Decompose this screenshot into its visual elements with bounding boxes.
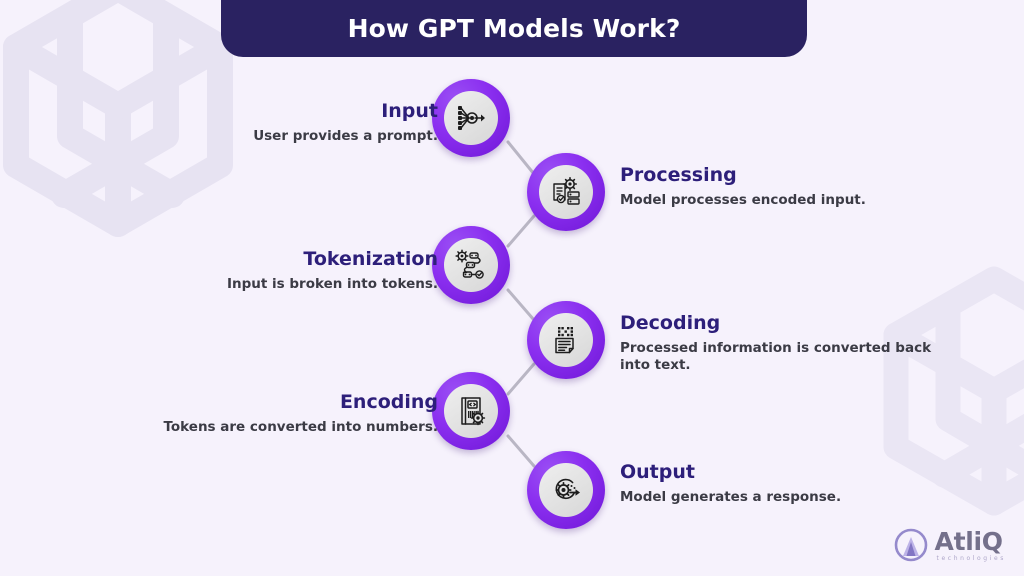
step-description-output: Model generates a response. [620,489,950,506]
step-title-decoding: Decoding [620,313,950,335]
step-title-output: Output [620,462,950,484]
step-description-encoding: Tokens are converted into numbers. [78,419,438,436]
step-node-decoding[interactable] [527,301,605,379]
step-title-input: Input [178,101,438,123]
step-node-processing[interactable] [527,153,605,231]
page-title-banner: How GPT Models Work? [221,0,807,57]
step-description-decoding: Processed information is converted back … [620,340,950,375]
step-text-processing: Processing Model processes encoded input… [620,165,950,209]
brand-tagline: technologies [937,556,1006,562]
brand-wordmark: AtliQ technologies [935,529,1006,562]
step-title-encoding: Encoding [78,392,438,414]
gear-arrow-icon [539,463,593,517]
qr-document-icon [539,313,593,367]
step-text-encoding: Encoding Tokens are converted into numbe… [78,392,438,436]
atliq-triangle-logo-icon [894,528,928,562]
step-node-encoding[interactable] [432,372,510,450]
step-text-tokenization: Tokenization Input is broken into tokens… [138,249,438,293]
infographic-canvas: How GPT Models Work? [0,0,1024,576]
code-book-gear-icon [444,384,498,438]
brand-name: AtliQ [935,529,1006,554]
step-text-decoding: Decoding Processed information is conver… [620,313,950,374]
step-text-input: Input User provides a prompt. [178,101,438,145]
step-description-processing: Model processes encoded input. [620,192,950,209]
step-node-input[interactable] [432,79,510,157]
document-gear-server-icon [539,165,593,219]
input-nodes-icon [444,91,498,145]
step-description-input: User provides a prompt. [178,128,438,145]
step-node-output[interactable] [527,451,605,529]
brand-logo: AtliQ technologies [894,528,1006,562]
step-description-tokenization: Input is broken into tokens. [138,276,438,293]
step-node-tokenization[interactable] [432,226,510,304]
step-title-processing: Processing [620,165,950,187]
step-text-output: Output Model generates a response. [620,462,950,506]
page-title: How GPT Models Work? [348,14,681,43]
step-title-tokenization: Tokenization [138,249,438,271]
workflow-gear-icon [444,238,498,292]
